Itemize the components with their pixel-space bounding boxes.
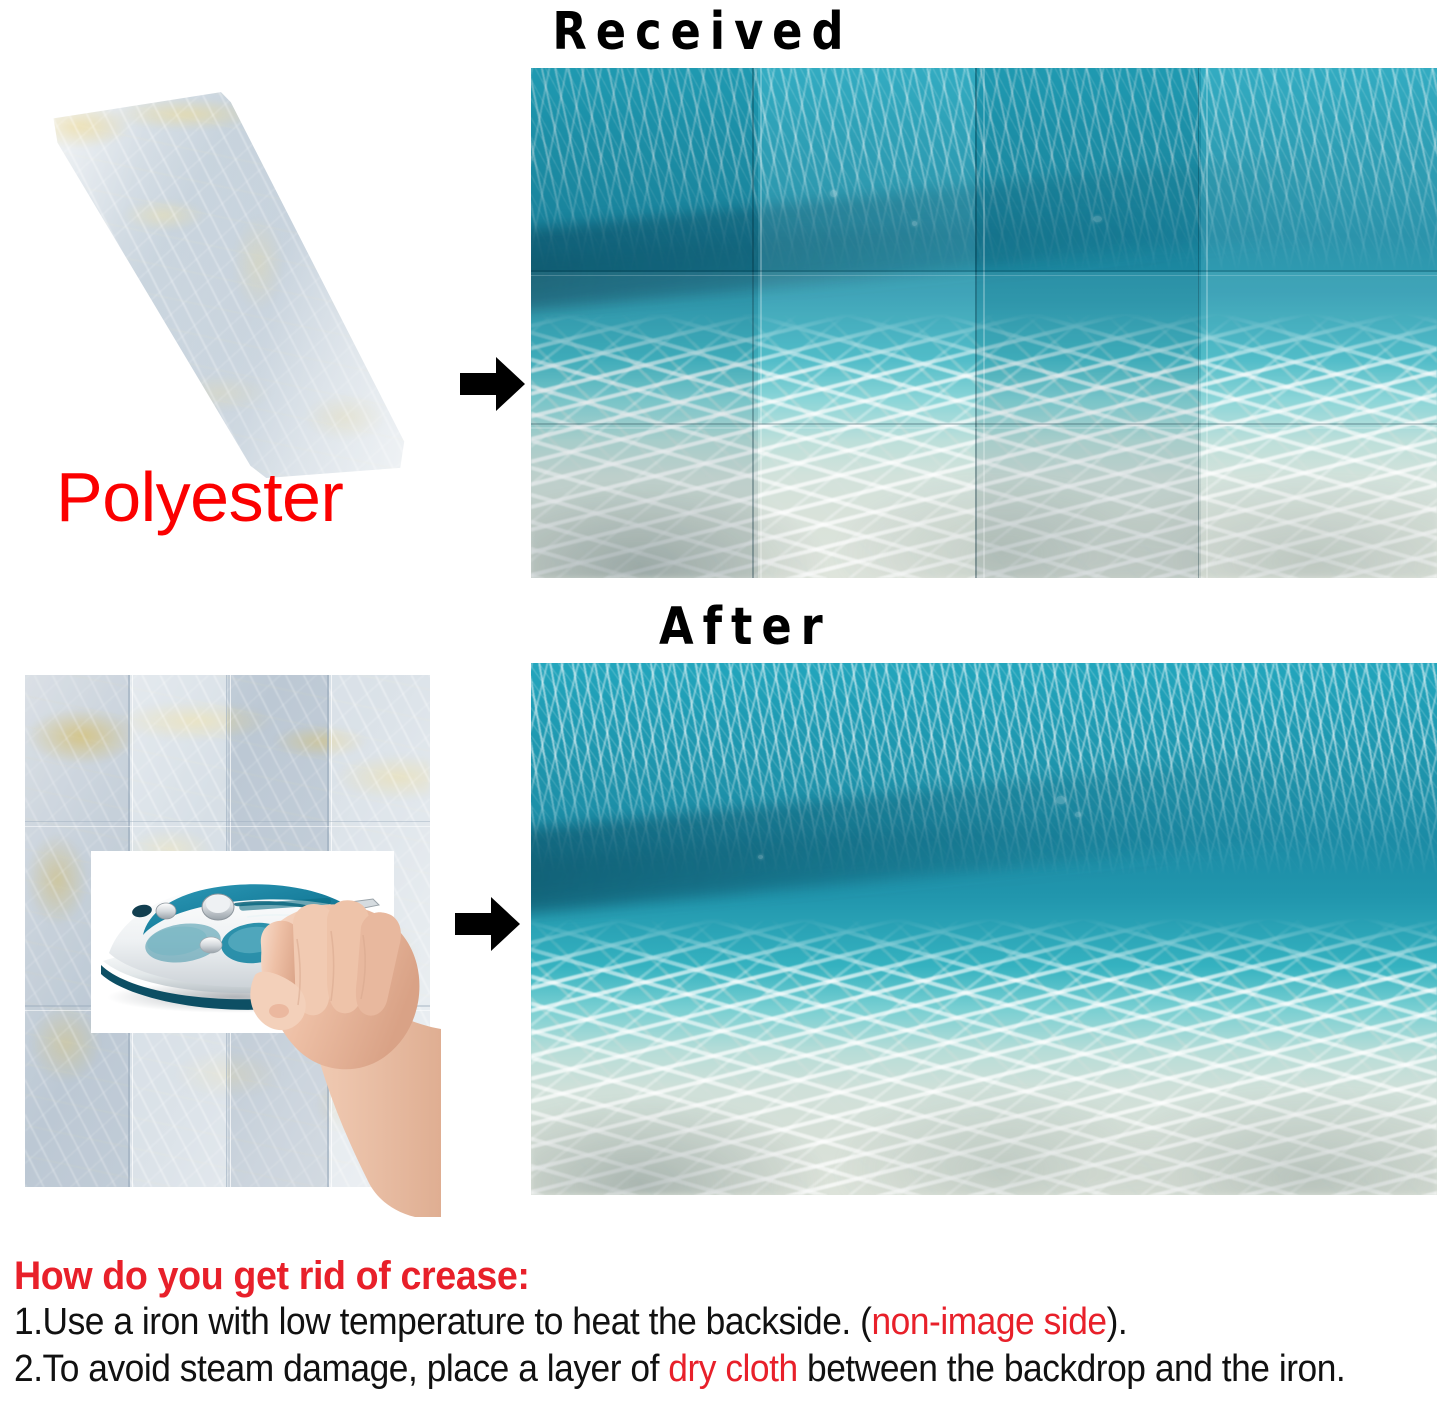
instruction-2-part-3: between the backdrop and the iron.: [798, 1348, 1346, 1390]
received-backdrop-photo: [531, 68, 1437, 578]
instruction-line-1: 1.Use a iron with low temperature to hea…: [14, 1299, 1335, 1346]
after-title-text: After: [659, 597, 832, 657]
instruction-1-highlight: non-image side: [871, 1301, 1106, 1343]
ironing-demo-card: [91, 851, 394, 1033]
received-title-text: Received: [552, 2, 852, 62]
instruction-1-part-3: ).: [1107, 1301, 1128, 1343]
polyester-swatch-rolled: [22, 78, 416, 482]
ocean-scene-received: [531, 68, 1437, 578]
instruction-line-2: 2.To avoid steam damage, place a layer o…: [14, 1346, 1335, 1393]
bubble-icon: [912, 221, 917, 226]
received-section-title: Received: [447, 2, 957, 62]
polyester-label: Polyester: [56, 462, 343, 532]
seabed-shading: [531, 982, 1437, 1195]
ocean-scene-after: [531, 663, 1437, 1195]
instructions-block: How do you get rid of crease: 1.Use a ir…: [14, 1253, 1434, 1393]
after-backdrop-photo: [531, 663, 1437, 1195]
fabric-edge-highlight: [22, 78, 416, 482]
instruction-2-part-1: 2.To avoid steam damage, place a layer o…: [14, 1348, 668, 1390]
seabed-shading: [531, 374, 1437, 578]
bubble-icon: [758, 855, 763, 859]
instructions-heading: How do you get rid of crease:: [14, 1253, 1349, 1299]
crease-line-horizontal: [25, 821, 430, 823]
bubble-icon: [1075, 812, 1081, 817]
instruction-2-highlight: dry cloth: [668, 1348, 797, 1390]
fabric-roll-shape: [22, 78, 416, 482]
hand-icon: [241, 879, 441, 1219]
right-arrow-icon: [460, 355, 526, 418]
instruction-1-part-1: 1.Use a iron with low temperature to hea…: [14, 1301, 871, 1343]
right-arrow-icon: [455, 895, 521, 958]
after-section-title: After: [600, 597, 890, 657]
bubble-icon: [1093, 216, 1102, 222]
crease-line-horizontal: [25, 826, 430, 828]
